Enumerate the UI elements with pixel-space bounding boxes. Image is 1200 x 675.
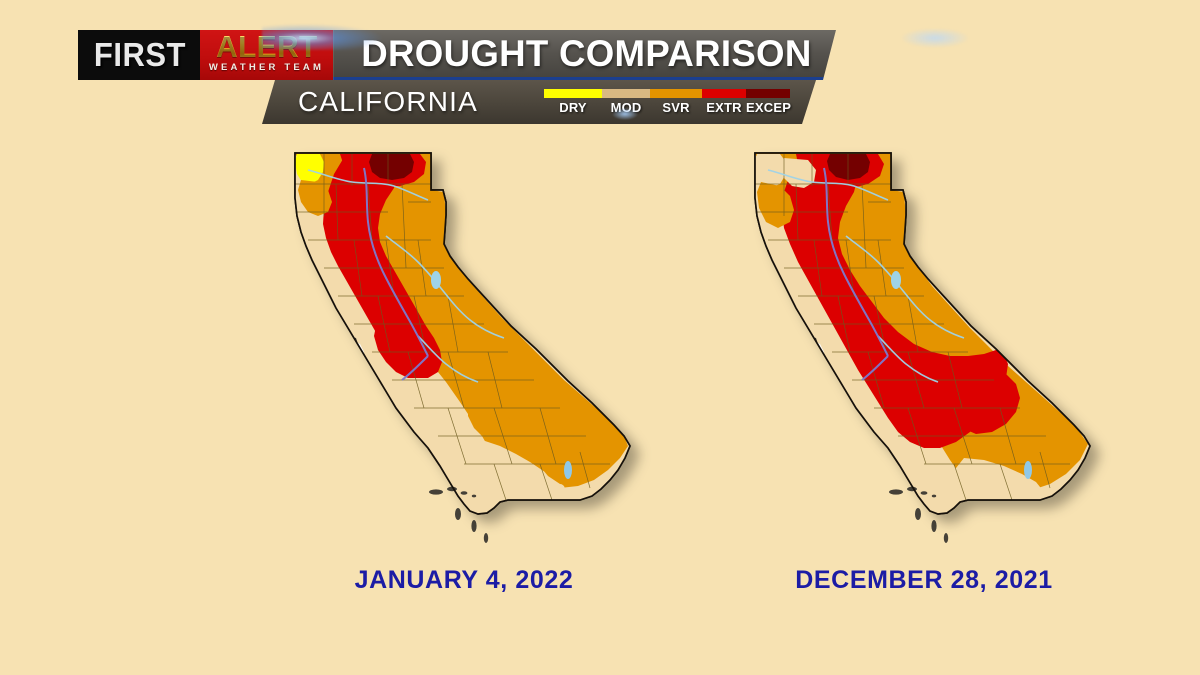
legend-label-row: DRY MOD SVR EXTR EXCEP <box>544 100 790 115</box>
map-date-label-right: DECEMBER 28, 2021 <box>728 566 1120 595</box>
first-alert-logo-alert: ALERT WEATHER TEAM <box>200 30 333 80</box>
logo-alert-text: ALERT <box>216 31 318 63</box>
legend-swatch-row <box>544 89 790 98</box>
legend-swatch-extr <box>702 89 746 98</box>
legend-swatch-mod <box>602 89 650 98</box>
blue-glow-accent-right-icon <box>900 28 970 48</box>
legend-swatch-dry <box>544 89 602 98</box>
map-date-label-left: JANUARY 4, 2022 <box>268 566 660 595</box>
title-bar-top-row: FIRST ALERT WEATHER TEAM DROUGHT COMPARI… <box>78 30 836 80</box>
legend-label-dry: DRY <box>544 100 602 115</box>
california-drought-map-left <box>268 140 660 560</box>
legend-swatch-svr <box>650 89 702 98</box>
legend-label-excep: EXCEP <box>746 100 791 115</box>
logo-first-text: FIRST <box>94 36 186 74</box>
title-bar: FIRST ALERT WEATHER TEAM DROUGHT COMPARI… <box>0 0 1200 135</box>
legend-label-extr: EXTR <box>702 100 746 115</box>
subtitle-plate: CALIFORNIA DRY MOD SVR EXTR EXCEP <box>262 80 816 124</box>
weather-graphic-stage: FIRST ALERT WEATHER TEAM DROUGHT COMPARI… <box>0 0 1200 675</box>
legend-label-mod: MOD <box>602 100 650 115</box>
map-december-2021 <box>728 140 1120 560</box>
title-plate: DROUGHT COMPARISON <box>333 30 836 80</box>
drought-severity-legend: DRY MOD SVR EXTR EXCEP <box>544 89 790 115</box>
legend-label-svr: SVR <box>650 100 702 115</box>
legend-swatch-excep <box>746 89 790 98</box>
map-january-2022 <box>268 140 660 560</box>
page-subtitle: CALIFORNIA <box>298 86 478 118</box>
first-alert-logo-first: FIRST <box>78 30 200 80</box>
page-title: DROUGHT COMPARISON <box>361 33 811 75</box>
california-drought-map-right <box>728 140 1120 560</box>
